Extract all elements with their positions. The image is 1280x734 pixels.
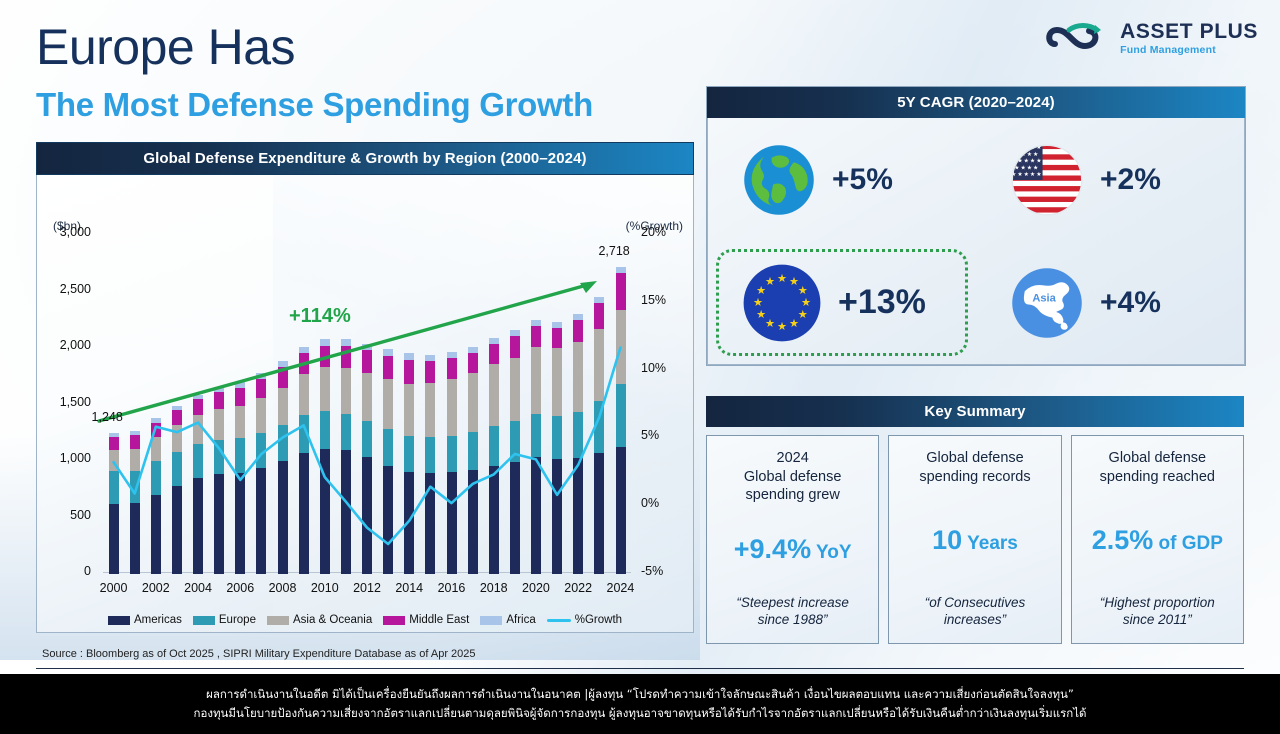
bar-segment-europe — [489, 426, 499, 466]
first-value-annotation: 1,248 — [92, 410, 123, 424]
bar-segment-europe — [425, 437, 435, 473]
bar-segment-asia-oceania — [299, 374, 309, 415]
svg-text:★: ★ — [1017, 171, 1022, 178]
legend-label: Middle East — [409, 614, 469, 626]
cagr-value: +5% — [832, 163, 893, 197]
bar-column — [462, 233, 483, 574]
x-tick-label: 2002 — [133, 581, 179, 595]
usa-flag-icon: ★★★★★★★★★★★★★★★★★★★★★★★ — [1010, 143, 1084, 217]
stacked-bar — [362, 344, 372, 574]
bar-column — [272, 233, 293, 574]
stacked-bar — [299, 347, 309, 574]
svg-text:★: ★ — [789, 317, 799, 329]
bar-segment-middle-east — [278, 367, 288, 387]
disclaimer-footer: ผลการดำเนินงานในอดีต มิได้เป็นเครื่องยืน… — [0, 674, 1280, 734]
y-tick-label: 2,000 — [45, 338, 91, 352]
bar-segment-middle-east — [489, 344, 499, 365]
stacked-bar — [616, 267, 626, 574]
source-note: Source : Bloomberg as of Oct 2025 , SIPR… — [42, 648, 476, 660]
summary-card-heading: Global defensespending records — [919, 449, 1030, 486]
x-tick-label: 2000 — [91, 581, 137, 595]
stacked-bar — [425, 355, 435, 574]
bar-segment-europe — [447, 436, 457, 473]
bar-segment-americas — [151, 495, 161, 574]
disclaimer-line-1: ผลการดำเนินงานในอดีต มิได้เป็นเครื่องยืน… — [206, 687, 1074, 702]
bar-segment-europe — [552, 416, 562, 460]
y-tick-label: 3,000 — [45, 225, 91, 239]
stacked-bar — [531, 320, 541, 574]
summary-panel: Key Summary 2024Global defensespending g… — [706, 396, 1244, 636]
cagr-item-europe: ★★★★★★★★★★★★+13% — [708, 241, 976, 364]
x-tick-label: 2012 — [344, 581, 390, 595]
bar-segment-europe — [468, 432, 478, 470]
bar-segment-middle-east — [510, 336, 520, 358]
x-tick-label: 2010 — [302, 581, 348, 595]
x-tick-label: 2022 — [555, 581, 601, 595]
summary-card: 2024Global defensespending grew+9.4% YoY… — [706, 435, 879, 644]
legend-label: Asia & Oceania — [293, 614, 372, 626]
chart-panel: Global Defense Expenditure & Growth by R… — [36, 142, 694, 630]
bar-segment-americas — [531, 457, 541, 574]
growth-callout-label: +114% — [289, 305, 351, 328]
bar-segment-asia-oceania — [193, 415, 203, 444]
cagr-item-asia: Asia +4% — [976, 241, 1244, 364]
bar-column — [209, 233, 230, 574]
bar-segment-middle-east — [235, 388, 245, 406]
logo-tagline: Fund Management — [1120, 45, 1258, 56]
bar-segment-asia-oceania — [489, 364, 499, 426]
bar-segment-europe — [151, 461, 161, 495]
bar-segment-asia-oceania — [130, 449, 140, 471]
page-title: Europe Has — [36, 22, 295, 72]
bar-segment-middle-east — [320, 346, 330, 367]
bar-segment-middle-east — [425, 361, 435, 383]
cagr-panel: 5Y CAGR (2020–2024) +5%★★★★★★★★★★★★★★★★★… — [706, 86, 1246, 366]
bar-segment-europe — [278, 425, 288, 461]
globe-icon — [742, 143, 816, 217]
x-tick-label: 2024 — [597, 581, 643, 595]
bar-column — [378, 233, 399, 574]
bar-column — [547, 233, 568, 574]
svg-text:★: ★ — [1030, 157, 1035, 164]
chart-body: ($bn) (%Growth) 05001,0001,5002,0002,500… — [36, 175, 694, 633]
infographic-page: Europe Has The Most Defense Spending Gro… — [0, 0, 1280, 734]
bar-segment-americas — [193, 478, 203, 574]
bar-segment-asia-oceania — [278, 388, 288, 425]
stacked-bar — [235, 382, 245, 574]
bar-segment-europe — [404, 436, 414, 472]
legend-swatch-icon — [383, 616, 405, 625]
bar-segment-europe — [531, 414, 541, 458]
bar-column — [399, 233, 420, 574]
stacked-bar — [489, 338, 499, 574]
bar-segment-middle-east — [447, 358, 457, 379]
stacked-bar — [510, 330, 520, 574]
bar-column — [314, 233, 335, 574]
cagr-grid: +5%★★★★★★★★★★★★★★★★★★★★★★★+2%★★★★★★★★★★★… — [707, 118, 1245, 365]
bar-column — [230, 233, 251, 574]
logo-company-name: ASSET PLUS — [1120, 21, 1258, 42]
stacked-bar — [256, 373, 266, 574]
summary-card-metric: +9.4% YoY — [734, 536, 852, 563]
summary-card-quote: “of Consecutivesincreases” — [925, 594, 1026, 629]
bar-column — [568, 233, 589, 574]
y-tick-label: 2,500 — [45, 282, 91, 296]
svg-text:★: ★ — [1036, 157, 1041, 164]
y-tick-label: 1,500 — [45, 395, 91, 409]
bar-segment-europe — [616, 384, 626, 447]
bar-segment-asia-oceania — [510, 358, 520, 421]
bar-segment-europe — [214, 440, 224, 474]
summary-card-metric-unit: YoY — [811, 542, 851, 563]
bar-column — [293, 233, 314, 574]
bar-segment-asia-oceania — [214, 409, 224, 440]
y-tick-label: 1,000 — [45, 451, 91, 465]
summary-card-metric: 10 Years — [932, 527, 1018, 554]
stacked-bar — [468, 347, 478, 574]
bar-segment-europe — [256, 433, 266, 468]
bar-column — [526, 233, 547, 574]
summary-card-heading: 2024Global defensespending grew — [744, 449, 842, 505]
cagr-value: +2% — [1100, 163, 1161, 197]
bar-column — [124, 233, 145, 574]
legend-swatch-icon — [547, 619, 571, 622]
bar-segment-asia-oceania — [468, 373, 478, 432]
bar-column — [188, 233, 209, 574]
legend-swatch-icon — [193, 616, 215, 625]
cagr-value: +13% — [838, 283, 926, 322]
bar-segment-americas — [172, 486, 182, 574]
svg-text:★: ★ — [1014, 150, 1019, 157]
legend-item: Middle East — [383, 614, 469, 626]
svg-text:★: ★ — [765, 276, 775, 288]
stacked-bar — [383, 349, 393, 574]
bar-segment-americas — [235, 473, 245, 574]
svg-text:★: ★ — [1033, 164, 1038, 171]
stacked-bar — [130, 431, 140, 574]
legend-swatch-icon — [267, 616, 289, 625]
stacked-bar — [404, 353, 414, 574]
y2-tick-label: 10% — [641, 361, 687, 375]
stacked-bar — [573, 314, 583, 574]
stacked-bar — [172, 406, 182, 574]
bar-segment-europe — [362, 421, 372, 457]
bar-column — [504, 233, 525, 574]
summary-card: Global defensespending records10 Years“o… — [888, 435, 1061, 644]
bar-segment-middle-east — [151, 423, 161, 437]
asia-map-icon: Asia — [1010, 266, 1084, 340]
eu-flag-icon: ★★★★★★★★★★★★ — [742, 263, 822, 343]
bar-segment-middle-east — [362, 350, 372, 373]
bar-segment-americas — [594, 453, 604, 574]
bar-segment-europe — [299, 415, 309, 452]
svg-text:★: ★ — [777, 273, 787, 285]
cagr-panel-heading: 5Y CAGR (2020–2024) — [707, 87, 1245, 118]
bar-column — [357, 233, 378, 574]
svg-text:★: ★ — [1024, 157, 1029, 164]
bar-segment-middle-east — [193, 399, 203, 415]
y2-tick-label: 20% — [641, 225, 687, 239]
svg-text:★: ★ — [1017, 144, 1022, 151]
bar-segment-asia-oceania — [531, 347, 541, 414]
usa-flag-icon: ★★★★★★★★★★★★★★★★★★★★★★★ — [1010, 143, 1084, 217]
stacked-bar — [278, 361, 288, 574]
bar-segment-asia-oceania — [256, 398, 266, 433]
bar-segment-americas — [552, 459, 562, 574]
x-tick-label: 2018 — [471, 581, 517, 595]
bar-segment-americas — [447, 472, 457, 574]
svg-text:★: ★ — [777, 321, 787, 333]
svg-text:★: ★ — [798, 285, 808, 297]
plot-area — [103, 233, 631, 574]
legend-item: Africa — [480, 614, 535, 626]
asia-map-icon: Asia — [1010, 266, 1084, 340]
disclaimer-line-2: กองทุนมีนโยบายป้องกันความเสี่ยงจากอัตราแ… — [193, 706, 1086, 721]
bar-segment-middle-east — [172, 410, 182, 425]
bar-segment-asia-oceania — [235, 406, 245, 439]
stacked-bar — [552, 322, 562, 574]
bar-segment-asia-oceania — [404, 384, 414, 436]
legend-item: Europe — [193, 614, 256, 626]
x-tick-label: 2020 — [513, 581, 559, 595]
bar-segment-americas — [278, 461, 288, 574]
bar-segment-asia-oceania — [341, 368, 351, 414]
x-tick-label: 2008 — [260, 581, 306, 595]
svg-text:★: ★ — [1033, 150, 1038, 157]
bar-segment-middle-east — [531, 326, 541, 347]
summary-card-quote: “Highest proportionsince 2011” — [1100, 594, 1215, 629]
bar-segment-asia-oceania — [616, 310, 626, 385]
bar-series-group — [103, 233, 631, 574]
bar-segment-middle-east — [404, 360, 414, 384]
svg-text:★: ★ — [753, 297, 763, 309]
bar-segment-middle-east — [468, 353, 478, 373]
bar-segment-asia-oceania — [172, 425, 182, 452]
summary-panel-heading: Key Summary — [706, 396, 1244, 427]
bar-segment-americas — [510, 462, 520, 574]
bar-segment-middle-east — [299, 353, 309, 374]
bar-segment-europe — [594, 401, 604, 452]
bar-segment-middle-east — [109, 437, 119, 450]
bar-column — [335, 233, 356, 574]
bar-segment-asia-oceania — [383, 379, 393, 429]
globe-icon — [742, 143, 816, 217]
bar-segment-asia-oceania — [362, 373, 372, 421]
bar-segment-europe — [235, 438, 245, 472]
bar-segment-asia-oceania — [594, 329, 604, 401]
chart-panel-heading: Global Defense Expenditure & Growth by R… — [36, 142, 694, 175]
bar-segment-asia-oceania — [109, 450, 119, 471]
svg-text:★: ★ — [1024, 171, 1029, 178]
svg-text:★: ★ — [1036, 171, 1041, 178]
bar-segment-europe — [383, 429, 393, 465]
bar-segment-americas — [256, 468, 266, 574]
stacked-bar — [109, 433, 119, 574]
summary-card-metric-unit: of GDP — [1153, 533, 1223, 554]
bar-segment-europe — [130, 471, 140, 503]
stacked-bar — [341, 339, 351, 574]
svg-text:★: ★ — [801, 297, 811, 309]
bar-segment-middle-east — [383, 356, 393, 379]
bar-segment-asia-oceania — [425, 383, 435, 437]
x-tick-label: 2016 — [428, 581, 474, 595]
y-tick-label: 0 — [45, 564, 91, 578]
cagr-item-global: +5% — [708, 118, 976, 241]
bar-segment-americas — [404, 472, 414, 574]
bar-column — [610, 233, 631, 574]
bar-segment-americas — [341, 450, 351, 574]
bar-segment-middle-east — [256, 379, 266, 398]
legend-swatch-icon — [480, 616, 502, 625]
bar-segment-americas — [320, 449, 330, 574]
bar-segment-americas — [109, 504, 119, 574]
bar-segment-europe — [341, 414, 351, 451]
page-subtitle: The Most Defense Spending Growth — [36, 88, 593, 121]
bar-column — [166, 233, 187, 574]
bar-segment-europe — [573, 412, 583, 458]
bar-segment-americas — [616, 447, 626, 574]
summary-card-quote: “Steepest increasesince 1988” — [736, 594, 849, 629]
x-tick-label: 2004 — [175, 581, 221, 595]
bar-column — [251, 233, 272, 574]
legend-label: Americas — [134, 614, 182, 626]
y-tick-label: 500 — [45, 508, 91, 522]
y2-tick-label: -5% — [641, 564, 687, 578]
cagr-value: +4% — [1100, 286, 1161, 320]
bar-segment-middle-east — [573, 320, 583, 342]
legend-label: %Growth — [575, 614, 622, 626]
bar-segment-europe — [320, 411, 330, 448]
x-tick-label: 2014 — [386, 581, 432, 595]
legend-item: Americas — [108, 614, 182, 626]
svg-text:★: ★ — [756, 309, 766, 321]
summary-card-heading: Global defensespending reached — [1100, 449, 1215, 486]
svg-text:Asia: Asia — [1032, 292, 1056, 304]
bar-segment-americas — [214, 474, 224, 574]
bar-column — [483, 233, 504, 574]
last-value-annotation: 2,718 — [598, 244, 629, 258]
summary-cards: 2024Global defensespending grew+9.4% YoY… — [706, 427, 1244, 644]
bar-segment-americas — [489, 466, 499, 574]
legend-item: %Growth — [547, 614, 622, 626]
x-tick-label: 2006 — [217, 581, 263, 595]
asset-plus-logo: ASSET PLUS Fund Management — [1045, 18, 1258, 58]
stacked-bar — [447, 352, 457, 574]
bar-segment-asia-oceania — [552, 348, 562, 416]
bar-segment-americas — [299, 453, 309, 574]
svg-text:★: ★ — [1011, 144, 1016, 151]
legend-item: Asia & Oceania — [267, 614, 372, 626]
stacked-bar — [214, 387, 224, 574]
svg-text:★: ★ — [1030, 171, 1035, 178]
summary-card-metric-unit: Years — [962, 533, 1018, 554]
svg-text:★: ★ — [1027, 164, 1032, 171]
bar-segment-europe — [172, 452, 182, 486]
bar-segment-middle-east — [130, 435, 140, 449]
bar-column — [441, 233, 462, 574]
bar-segment-middle-east — [214, 392, 224, 409]
bar-column — [420, 233, 441, 574]
bar-segment-asia-oceania — [151, 437, 161, 461]
svg-text:★: ★ — [798, 309, 808, 321]
summary-card-metric: 2.5% of GDP — [1092, 527, 1223, 554]
stacked-bar — [594, 297, 604, 574]
infinity-logo-icon — [1045, 18, 1111, 58]
bar-column — [145, 233, 166, 574]
stacked-bar — [320, 339, 330, 574]
bar-segment-middle-east — [616, 273, 626, 309]
chart-legend: AmericasEuropeAsia & OceaniaMiddle EastA… — [37, 607, 693, 633]
bar-segment-middle-east — [341, 346, 351, 368]
bar-column — [103, 233, 124, 574]
stacked-bar — [151, 418, 161, 574]
bar-segment-europe — [510, 421, 520, 462]
svg-text:★: ★ — [765, 317, 775, 329]
bar-segment-americas — [468, 470, 478, 574]
divider-rule — [36, 668, 1244, 669]
y2-tick-label: 5% — [641, 428, 687, 442]
bar-segment-europe — [109, 471, 119, 504]
bar-segment-americas — [573, 458, 583, 574]
bar-column — [589, 233, 610, 574]
bar-segment-asia-oceania — [573, 342, 583, 411]
bar-segment-americas — [362, 457, 372, 574]
y2-tick-label: 0% — [641, 496, 687, 510]
bar-segment-americas — [383, 466, 393, 574]
legend-label: Africa — [506, 614, 535, 626]
cagr-item-united-states: ★★★★★★★★★★★★★★★★★★★★★★★+2% — [976, 118, 1244, 241]
summary-card: Global defensespending reached2.5% of GD… — [1071, 435, 1244, 644]
bar-segment-europe — [193, 444, 203, 478]
bar-segment-asia-oceania — [447, 379, 457, 436]
eu-flag-icon: ★★★★★★★★★★★★ — [742, 263, 822, 343]
bar-segment-middle-east — [552, 328, 562, 348]
stacked-bar — [193, 395, 203, 574]
svg-text:★: ★ — [1020, 164, 1025, 171]
bar-segment-americas — [130, 503, 140, 574]
bar-segment-middle-east — [594, 303, 604, 329]
bar-segment-asia-oceania — [320, 367, 330, 411]
legend-label: Europe — [219, 614, 256, 626]
legend-swatch-icon — [108, 616, 130, 625]
bar-segment-americas — [425, 473, 435, 574]
y2-tick-label: 15% — [641, 293, 687, 307]
